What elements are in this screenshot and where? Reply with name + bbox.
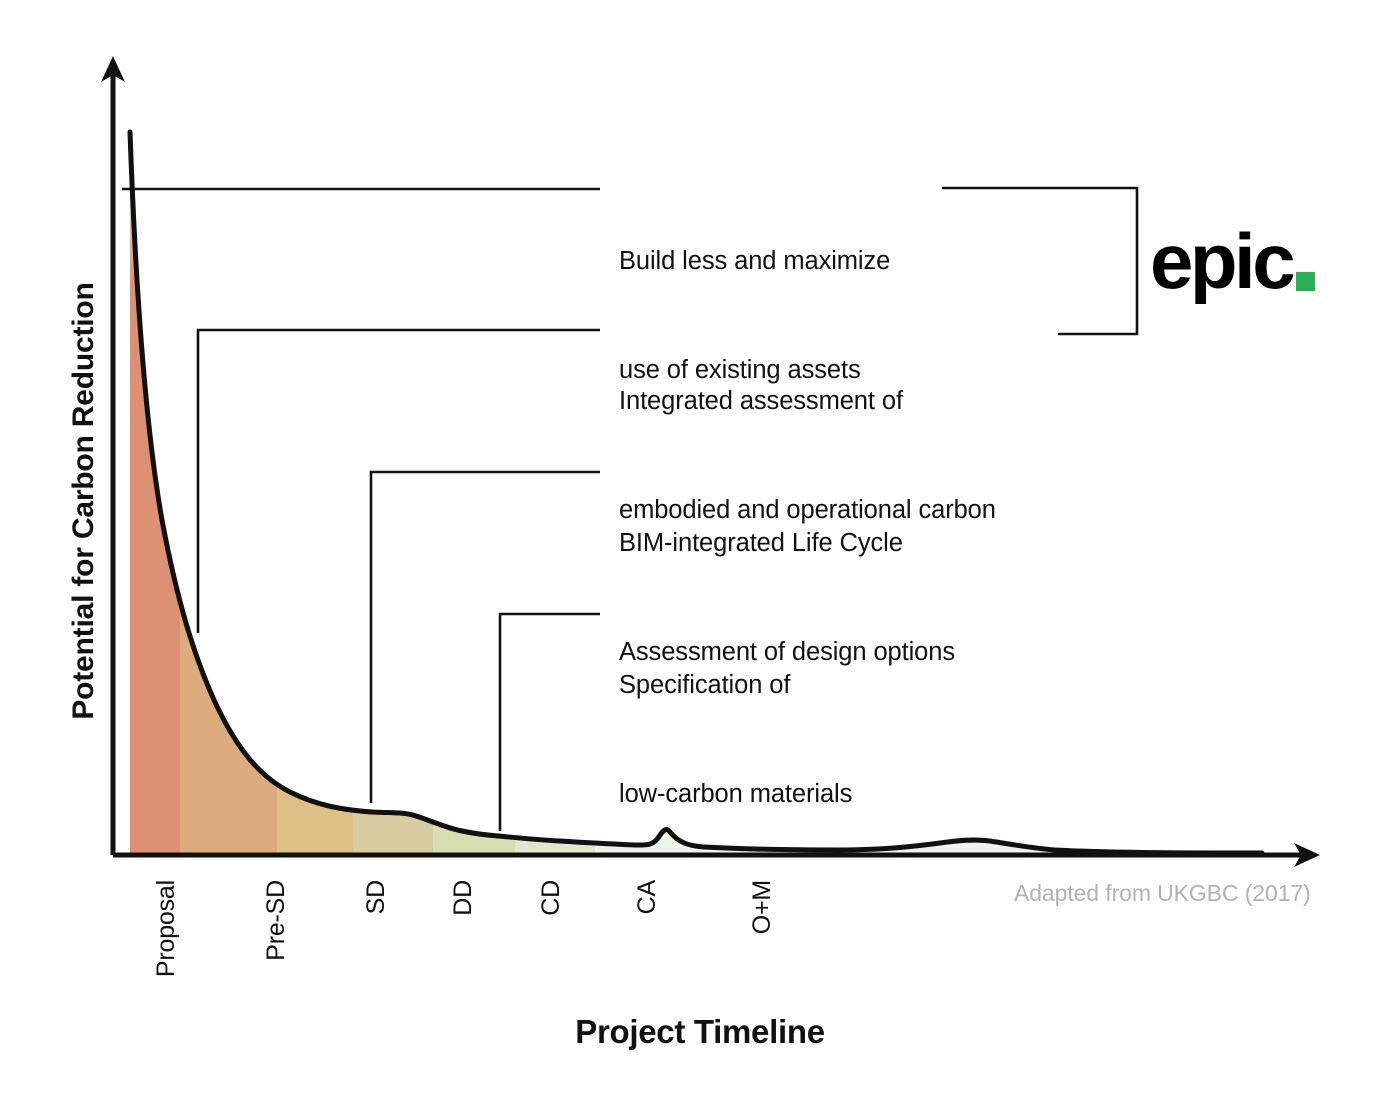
x-tick-label-sd: SD xyxy=(362,880,391,1113)
x-tick-label-pre-sd: Pre-SD xyxy=(262,880,291,1113)
y-axis-title: Potential for Carbon Reduction xyxy=(67,201,101,801)
epic-wordmark: epic xyxy=(1150,228,1292,295)
x-tick-label-proposal: Proposal xyxy=(152,880,181,1113)
x-axis-title: Project Timeline xyxy=(0,1013,1400,1051)
x-tick-label-ca: CA xyxy=(633,880,662,1113)
phase-band-cd xyxy=(433,120,515,860)
epic-dot-icon xyxy=(1296,272,1315,291)
leader-low-carbon-spec xyxy=(500,614,600,831)
leader-integrated-assessment xyxy=(198,330,600,633)
chart-canvas: Build less and maximize use of existing … xyxy=(0,0,1400,1113)
source-attribution: Adapted from UKGBC (2017) xyxy=(1014,880,1311,907)
phase-band-sd xyxy=(277,120,353,860)
annotation-low-carbon-spec-line1: Specification of xyxy=(619,667,852,703)
x-tick-label-cd: CD xyxy=(537,880,566,1113)
epic-logo: epic xyxy=(1150,228,1315,295)
annotation-integrated-assessment-line1: Integrated assessment of xyxy=(619,383,996,419)
x-tick-label-dd: DD xyxy=(449,880,478,1113)
annotation-low-carbon-spec-line2: low-carbon materials xyxy=(619,776,852,812)
x-tick-label-om: O+M xyxy=(748,880,777,1113)
phase-band-pre-sd xyxy=(180,120,277,860)
annotation-bim-lca-line1: BIM-integrated Life Cycle xyxy=(619,525,955,561)
leader-bim-lca xyxy=(371,472,600,803)
phase-band-ca xyxy=(515,120,595,860)
y-axis xyxy=(101,56,125,855)
annotation-low-carbon-spec: Specification of low-carbon materials xyxy=(619,594,852,886)
phase-band-dd xyxy=(353,120,433,860)
annotation-build-less-line1: Build less and maximize xyxy=(619,243,890,279)
